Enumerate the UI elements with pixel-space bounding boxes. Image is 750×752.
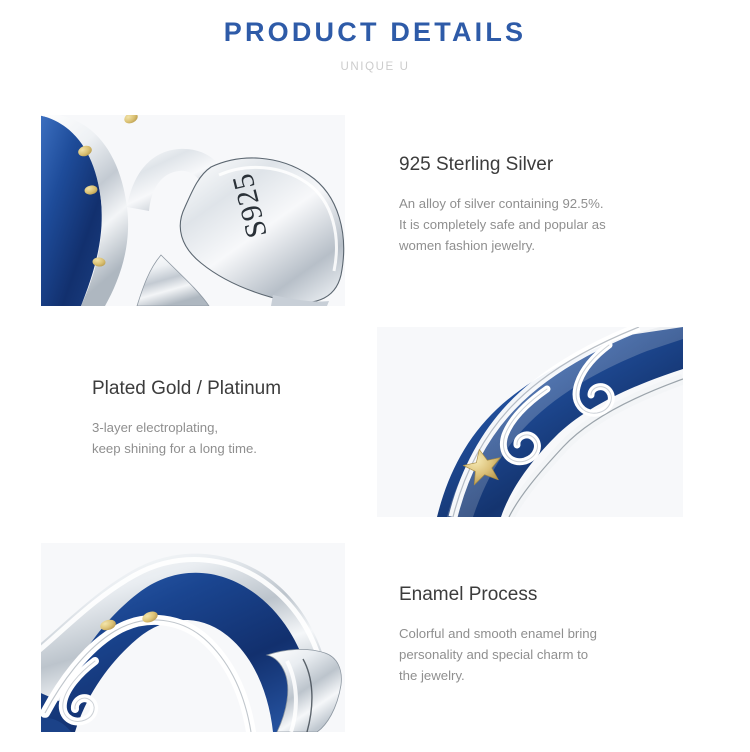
- feature-image-sterling-silver: S925: [41, 115, 345, 306]
- feature-text-enamel-process: Enamel Process Colorful and smooth ename…: [399, 583, 699, 686]
- feature-title-sterling-silver: 925 Sterling Silver: [399, 153, 699, 177]
- feature-title-plated-gold-platinum: Plated Gold / Platinum: [92, 377, 392, 401]
- feature-text-plated-gold-platinum: Plated Gold / Platinum 3-layer electropl…: [92, 377, 392, 459]
- page-title: PRODUCT DETAILS: [0, 16, 750, 48]
- feature-title-enamel-process: Enamel Process: [399, 583, 699, 607]
- feature-image-enamel-process: [41, 543, 345, 732]
- page-subtitle: UNIQUE U: [0, 58, 750, 76]
- feature-text-sterling-silver: 925 Sterling Silver An alloy of silver c…: [399, 153, 699, 256]
- product-details-page: PRODUCT DETAILS UNIQUE U: [0, 0, 750, 752]
- feature-description-plated-gold-platinum: 3-layer electroplating, keep shining for…: [92, 417, 392, 459]
- feature-image-plated-gold-platinum: [377, 327, 683, 517]
- feature-description-enamel-process: Colorful and smooth enamel bring persona…: [399, 623, 699, 686]
- feature-description-sterling-silver: An alloy of silver containing 92.5%. It …: [399, 193, 699, 256]
- page-header: PRODUCT DETAILS UNIQUE U: [0, 0, 750, 76]
